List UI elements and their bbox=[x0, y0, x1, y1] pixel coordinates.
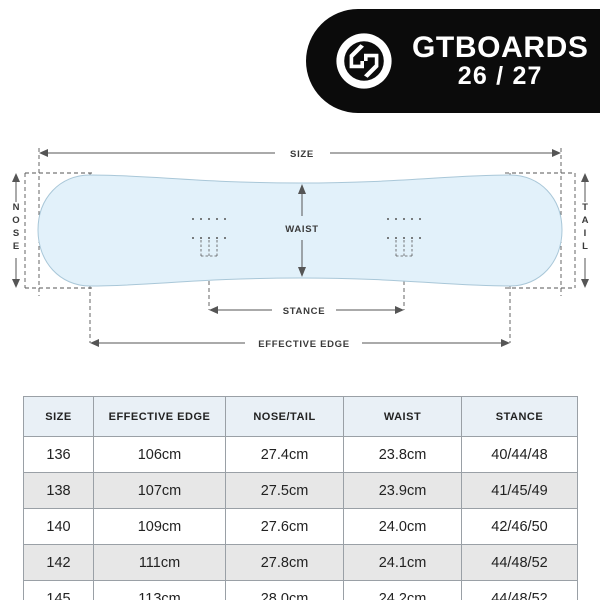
snowboard-diagram: SIZE bbox=[0, 128, 600, 368]
stance-arrow-left bbox=[209, 306, 218, 314]
cell-effective-edge: 109cm bbox=[94, 509, 226, 545]
cell-stance: 41/45/49 bbox=[462, 473, 578, 509]
size-dimension: SIZE bbox=[39, 149, 561, 160]
cell-effective-edge: 111cm bbox=[94, 545, 226, 581]
table-row: 145 113cm 28.0cm 24.2cm 44/48/52 bbox=[24, 581, 578, 600]
waist-label: WAIST bbox=[285, 224, 319, 235]
table-body: 136 106cm 27.4cm 23.8cm 40/44/48 138 107… bbox=[24, 437, 578, 600]
effective-edge-arrow-left bbox=[90, 339, 99, 347]
nose-letter-e: E bbox=[13, 241, 19, 252]
cell-nose-tail: 27.4cm bbox=[226, 437, 344, 473]
brand-name: GTBOARDS bbox=[412, 32, 588, 64]
cell-effective-edge: 107cm bbox=[94, 473, 226, 509]
tail-arrow-down bbox=[581, 279, 589, 288]
size-spec-table: SIZE EFFECTIVE EDGE NOSE/TAIL WAIST STAN… bbox=[23, 396, 578, 600]
table-row: 142 111cm 27.8cm 24.1cm 44/48/52 bbox=[24, 545, 578, 581]
cell-waist: 23.9cm bbox=[344, 473, 462, 509]
tail-letter-i: I bbox=[584, 228, 587, 239]
tail-letter-a: A bbox=[582, 215, 589, 226]
cell-waist: 23.8cm bbox=[344, 437, 462, 473]
nose-letter-o: O bbox=[12, 215, 19, 226]
cell-waist: 24.2cm bbox=[344, 581, 462, 600]
cell-stance: 40/44/48 bbox=[462, 437, 578, 473]
gtboards-logo-icon bbox=[334, 31, 394, 91]
effective-edge-arrow-right bbox=[501, 339, 510, 347]
col-header-size: SIZE bbox=[24, 397, 94, 437]
size-label: SIZE bbox=[290, 149, 314, 160]
stance-label: STANCE bbox=[283, 306, 326, 317]
cell-effective-edge: 106cm bbox=[94, 437, 226, 473]
table-row: 136 106cm 27.4cm 23.8cm 40/44/48 bbox=[24, 437, 578, 473]
cell-size: 140 bbox=[24, 509, 94, 545]
cell-nose-tail: 27.8cm bbox=[226, 545, 344, 581]
nose-arrow-up bbox=[12, 173, 20, 182]
nose-letter-n: N bbox=[13, 202, 20, 213]
cell-waist: 24.1cm bbox=[344, 545, 462, 581]
col-header-effective-edge: EFFECTIVE EDGE bbox=[94, 397, 226, 437]
cell-size: 142 bbox=[24, 545, 94, 581]
nose-dimension: N O S E bbox=[12, 173, 20, 288]
cell-stance: 44/48/52 bbox=[462, 581, 578, 600]
spec-table-container: SIZE EFFECTIVE EDGE NOSE/TAIL WAIST STAN… bbox=[23, 396, 577, 600]
cell-nose-tail: 28.0cm bbox=[226, 581, 344, 600]
nose-letter-s: S bbox=[13, 228, 19, 239]
tail-letter-t: T bbox=[582, 202, 588, 213]
table-row: 138 107cm 27.5cm 23.9cm 41/45/49 bbox=[24, 473, 578, 509]
table-header: SIZE EFFECTIVE EDGE NOSE/TAIL WAIST STAN… bbox=[24, 397, 578, 437]
size-chart-page: GTBOARDS 26 / 27 bbox=[0, 0, 600, 600]
stance-dimension: STANCE bbox=[209, 306, 404, 317]
effective-edge-dimension: EFFECTIVE EDGE bbox=[90, 339, 510, 350]
cell-effective-edge: 113cm bbox=[94, 581, 226, 600]
size-arrow-right bbox=[552, 149, 561, 157]
cell-nose-tail: 27.6cm bbox=[226, 509, 344, 545]
nose-arrow-down bbox=[12, 279, 20, 288]
col-header-stance: STANCE bbox=[462, 397, 578, 437]
cell-stance: 42/46/50 bbox=[462, 509, 578, 545]
table-header-row: SIZE EFFECTIVE EDGE NOSE/TAIL WAIST STAN… bbox=[24, 397, 578, 437]
tail-dimension: T A I L bbox=[581, 173, 589, 288]
col-header-nose-tail: NOSE/TAIL bbox=[226, 397, 344, 437]
size-arrow-left bbox=[39, 149, 48, 157]
tail-arrow-up bbox=[581, 173, 589, 182]
snowboard-diagram-svg: SIZE bbox=[0, 128, 600, 368]
table-row: 140 109cm 27.6cm 24.0cm 42/46/50 bbox=[24, 509, 578, 545]
cell-stance: 44/48/52 bbox=[462, 545, 578, 581]
cell-size: 136 bbox=[24, 437, 94, 473]
brand-season: 26 / 27 bbox=[458, 63, 543, 91]
cell-size: 138 bbox=[24, 473, 94, 509]
brand-text-group: GTBOARDS 26 / 27 bbox=[412, 32, 588, 91]
tail-letter-l: L bbox=[582, 241, 588, 252]
brand-banner: GTBOARDS 26 / 27 bbox=[306, 9, 600, 113]
effective-edge-label: EFFECTIVE EDGE bbox=[258, 339, 350, 350]
cell-nose-tail: 27.5cm bbox=[226, 473, 344, 509]
cell-size: 145 bbox=[24, 581, 94, 600]
col-header-waist: WAIST bbox=[344, 397, 462, 437]
cell-waist: 24.0cm bbox=[344, 509, 462, 545]
stance-arrow-right bbox=[395, 306, 404, 314]
